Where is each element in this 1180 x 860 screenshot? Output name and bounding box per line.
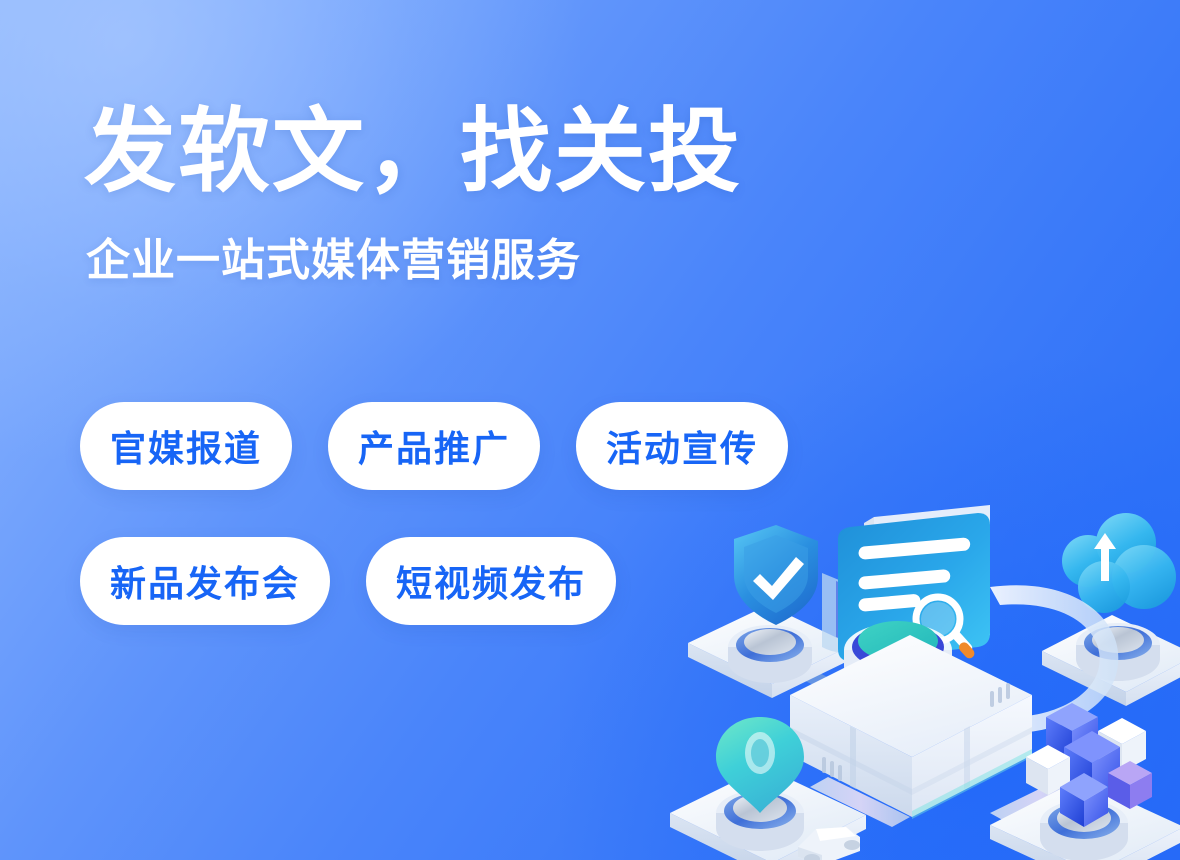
- background-glow-top-left: [0, 0, 580, 460]
- banner-subheadline: 企业一站式媒体营销服务: [86, 236, 581, 287]
- marketing-banner: 发软文，找关投 企业一站式媒体营销服务 官媒报道 产品推广 活动宣传 新品发布会…: [0, 0, 1180, 860]
- service-tag-event-publicity[interactable]: 活动宣传: [576, 402, 788, 490]
- service-tag-short-video[interactable]: 短视频发布: [366, 537, 616, 625]
- service-tag-product-launch[interactable]: 新品发布会: [80, 537, 330, 625]
- service-tag-product-promotion[interactable]: 产品推广: [328, 402, 540, 490]
- service-tag-row-1: 官媒报道 产品推广 活动宣传: [80, 402, 788, 490]
- service-tag-official-media[interactable]: 官媒报道: [80, 402, 292, 490]
- hero-illustration: [660, 495, 1180, 860]
- banner-headline: 发软文，找关投: [84, 104, 742, 201]
- cloud-upload-icon: [1062, 513, 1176, 613]
